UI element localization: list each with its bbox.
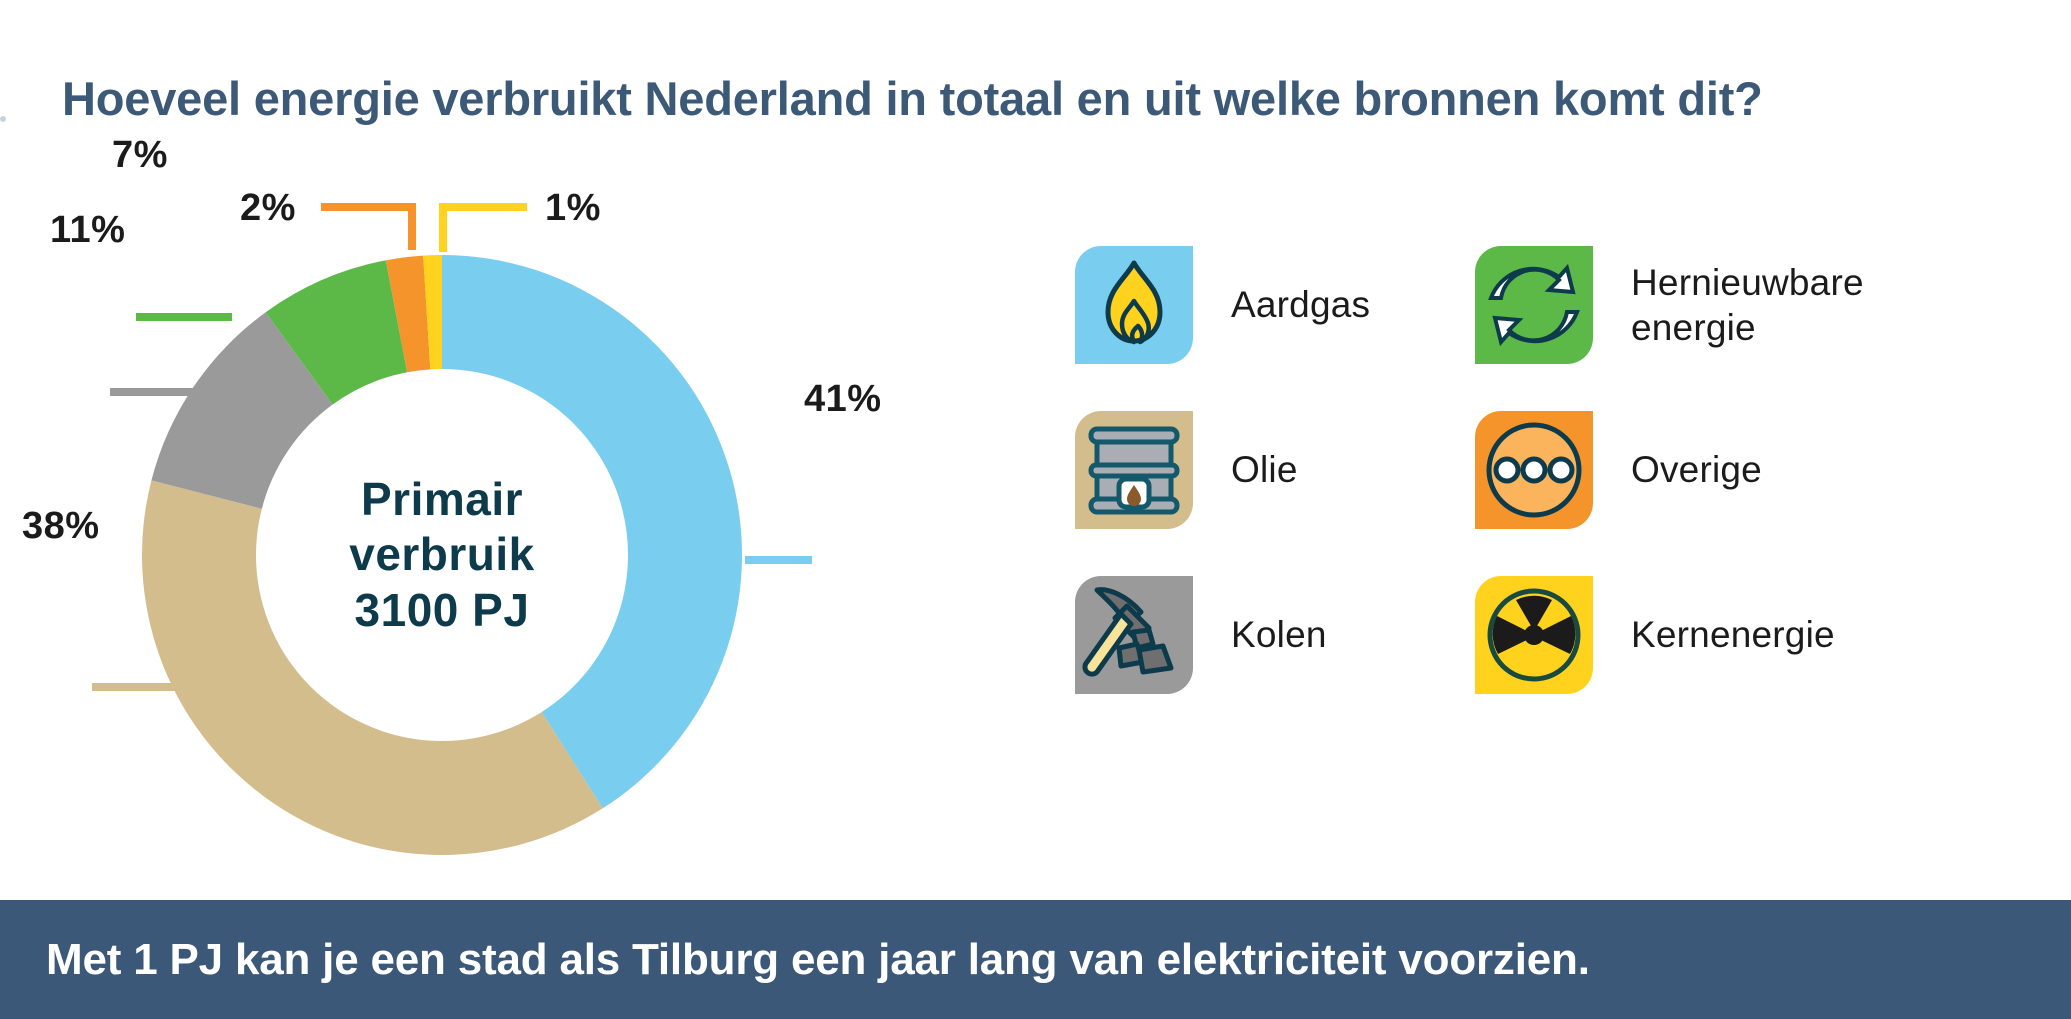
infographic-canvas: Hoeveel energie verbruikt Nederland in t… — [0, 0, 2071, 1019]
legend-label-hernieuwbare-energie: Hernieuwbare energie — [1631, 260, 1864, 350]
page-title: Hoeveel energie verbruikt Nederland in t… — [62, 71, 2052, 126]
legend-item-aardgas[interactable]: Aardgas — [1075, 245, 1370, 365]
oil-barrel-icon — [1075, 411, 1193, 529]
pct-label-olie: 38% — [22, 505, 100, 548]
legend-item-olie[interactable]: Olie — [1075, 410, 1298, 530]
radiation-icon — [1475, 576, 1593, 694]
pickaxe-coal-icon — [1075, 576, 1193, 694]
pct-label-hernieuwbaar: 7% — [112, 134, 168, 177]
pct-label-kolen: 11% — [50, 209, 125, 252]
legend-label-kernenergie: Kernenergie — [1631, 612, 1835, 657]
bottom-banner: Met 1 PJ kan je een stad als Tilburg een… — [0, 900, 2071, 1019]
legend-label-kolen: Kolen — [1231, 612, 1327, 657]
legend-item-kolen[interactable]: Kolen — [1075, 575, 1327, 695]
pct-label-kernenergie: 1% — [545, 187, 601, 230]
legend: Aardgas Olie — [1075, 245, 2035, 695]
legend-item-hernieuwbare-energie[interactable]: Hernieuwbare energie — [1475, 245, 1864, 365]
flame-icon — [1075, 246, 1193, 364]
legend-label-aardgas: Aardgas — [1231, 282, 1370, 327]
recycle-icon — [1475, 246, 1593, 364]
pct-label-overige: 2% — [240, 187, 296, 230]
pct-label-aardgas: 41% — [804, 378, 882, 421]
socket-dots-icon — [1475, 411, 1593, 529]
legend-label-overige: Overige — [1631, 447, 1762, 492]
leader-lines — [0, 160, 1000, 800]
banner-text: Met 1 PJ kan je een stad als Tilburg een… — [46, 935, 1590, 985]
legend-item-overige[interactable]: Overige — [1475, 410, 1762, 530]
legend-item-kernenergie[interactable]: Kernenergie — [1475, 575, 1835, 695]
legend-label-olie: Olie — [1231, 447, 1298, 492]
edge-artifact — [0, 116, 6, 122]
